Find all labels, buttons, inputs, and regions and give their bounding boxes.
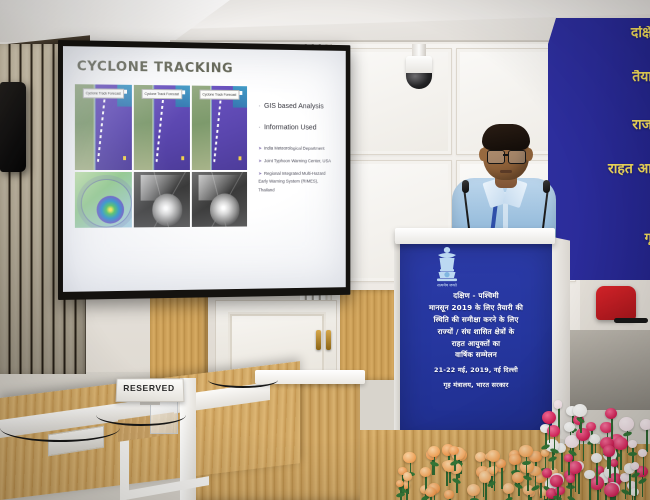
eyeglasses-lens-left xyxy=(487,150,505,164)
flower-bloom xyxy=(550,475,562,486)
wood-pilaster xyxy=(150,290,208,380)
orange-flower-arrangement xyxy=(392,438,560,500)
eyeglasses-lens-right xyxy=(508,150,526,164)
projection-screen-frame: CYCLONE TRACKING Cyclone Track Forecast … xyxy=(58,40,350,300)
flower-bloom xyxy=(603,445,616,457)
right-banner-line-3: राज xyxy=(556,118,650,132)
desk-cable xyxy=(208,372,278,388)
flower-bloom xyxy=(444,490,454,499)
flower-leaf xyxy=(628,452,637,456)
eyeglasses-bridge xyxy=(503,154,508,156)
microphone-head-right xyxy=(543,180,550,193)
conference-hall-photo: CYCLONE TRACKING Cyclone Track Forecast … xyxy=(0,0,650,500)
wall-panel xyxy=(340,48,452,155)
slide-sub-bullet-list: ➤India Meteorological Department ➤Joint … xyxy=(258,144,338,194)
wood-pilaster xyxy=(340,290,402,380)
speaker-hair xyxy=(482,124,530,150)
banner-line-2: मानसून 2019 के लिए तैयारी की xyxy=(398,302,554,314)
map-red-tag xyxy=(182,90,185,94)
flower-bloom xyxy=(425,487,436,497)
rainfall-wind-analysis-map xyxy=(75,172,132,228)
sub-bullet-imd: ➤India Meteorological Department xyxy=(258,144,338,153)
banner-line-5: राहत आयुक्तों का xyxy=(398,338,554,350)
speaker-mouth xyxy=(500,170,512,173)
map-yellow-tag xyxy=(123,156,126,160)
projection-screen: CYCLONE TRACKING Cyclone Track Forecast … xyxy=(63,46,346,292)
slide-bullet-gis: ·GIS based Analysis xyxy=(258,102,338,111)
sub-bullet-rimes: ➤Regional Integrated Multi-Hazard Early … xyxy=(258,170,333,195)
cyclone-track-forecast-map-2: Cyclone Track Forecast xyxy=(134,85,190,170)
svg-text:सत्यमेव जयते: सत्यमेव जयते xyxy=(437,283,457,288)
red-chair xyxy=(596,286,636,320)
right-banner-line-5: गृ xyxy=(556,232,650,245)
slide-bullet-list: ·GIS based Analysis ·Information Used ➤I… xyxy=(258,102,338,199)
map-caption: Cyclone Track Forecast xyxy=(142,89,182,99)
sub-bullet-label: Joint Typhoon Warning Center, USA xyxy=(264,158,331,163)
flower-bloom xyxy=(403,452,416,464)
right-banner-line-4: राहत आ xyxy=(556,162,650,176)
bullet-label: Information Used xyxy=(264,122,316,131)
satellite-cyclone-image-2 xyxy=(192,172,247,227)
banner-ministry-line: गृह मंत्रालय, भारत सरकार xyxy=(398,380,554,391)
speaker-ear-left xyxy=(479,148,487,161)
right-banner-text: दक्षि तैया राज राहत आ गृ xyxy=(556,26,650,275)
flower-bloom xyxy=(509,454,520,464)
flower-bloom xyxy=(591,453,602,463)
bullet-label: GIS based Analysis xyxy=(264,101,324,110)
flower-leaf xyxy=(452,477,462,484)
flower-bloom xyxy=(620,473,629,482)
flower-bloom xyxy=(584,470,595,480)
flower-leaf xyxy=(396,492,406,498)
flower-bloom xyxy=(420,467,431,477)
banner-line-1: दक्षिण - पश्चिमी xyxy=(398,290,554,302)
flower-bloom xyxy=(542,411,556,424)
flower-bloom xyxy=(604,483,619,497)
right-banner-line-2: तैया xyxy=(556,70,650,84)
podium-banner-text: दक्षिण - पश्चिमी मानसून 2019 के लिए तैया… xyxy=(398,290,554,390)
banner-line-4: राज्यों / संघ शासित क्षेत्रों के xyxy=(398,326,554,338)
podium-top-surface xyxy=(395,228,555,244)
sub-bullet-label: Regional Integrated Multi-Hazard Early W… xyxy=(258,171,325,192)
flower-bloom xyxy=(403,472,413,481)
banner-line-6: वार्षिक सम्मेलन xyxy=(398,349,554,361)
desk-cable xyxy=(96,404,186,426)
map-caption: Cyclone Track Forecast xyxy=(200,90,240,100)
map-red-tag xyxy=(240,91,243,95)
cyclone-track-forecast-map-1: Cyclone Track Forecast xyxy=(75,84,132,170)
flower-bloom xyxy=(628,440,637,448)
flower-leaf xyxy=(566,495,576,500)
flower-leaf xyxy=(514,482,524,490)
right-banner-line-1: दक्षि xyxy=(556,26,650,40)
flower-leaf xyxy=(504,496,514,500)
flower-bloom xyxy=(573,404,587,417)
ashoka-lion-capital-emblem: सत्यमेव जयते xyxy=(427,245,467,289)
map-yellow-tag xyxy=(181,156,184,160)
map-yellow-tag xyxy=(239,156,242,160)
pink-white-flower-arrangement xyxy=(540,396,650,500)
flower-bloom xyxy=(638,449,647,458)
flower-bloom xyxy=(619,417,634,431)
flower-bloom xyxy=(576,428,590,441)
slide-title: CYCLONE TRACKING xyxy=(77,58,233,76)
satellite-cyclone-image-1 xyxy=(134,172,190,227)
door-handle[interactable] xyxy=(316,330,321,350)
reserved-sign-label: RESERVED xyxy=(118,383,180,393)
flower-bloom xyxy=(467,484,480,496)
flower-bloom xyxy=(428,446,440,457)
chair-armrest xyxy=(614,318,648,323)
banner-line-3: स्थिति की समीक्षा करने के लिए xyxy=(398,314,554,326)
flower-bloom xyxy=(564,454,573,462)
flower-bloom xyxy=(519,445,533,458)
flower-bloom xyxy=(640,419,650,430)
microphone-head-left xyxy=(462,180,469,193)
map-red-tag xyxy=(124,90,127,94)
flower-bloom xyxy=(589,434,600,444)
wall-speaker xyxy=(0,82,26,172)
flower-bloom xyxy=(613,437,628,450)
door-handle[interactable] xyxy=(326,330,331,350)
flower-bloom xyxy=(605,408,617,419)
flower-bloom xyxy=(610,459,619,467)
sub-bullet-jtwc: ➤Joint Typhoon Warning Center, USA xyxy=(258,157,338,165)
flower-bloom xyxy=(554,400,563,408)
cyclone-track-forecast-map-3: Cyclone Track Forecast xyxy=(192,86,247,170)
sub-bullet-label: India Meteorological Department xyxy=(264,145,325,150)
banner-date-line: 21-22 मई, 2019, नई दिल्ली xyxy=(398,365,554,376)
slide-map-grid: Cyclone Track Forecast Cyclone Track For… xyxy=(75,84,247,226)
flower-bloom xyxy=(503,483,515,494)
flower-stem xyxy=(635,467,637,497)
speaker-ear-right xyxy=(525,148,533,161)
map-caption: Cyclone Track Forecast xyxy=(83,88,124,98)
slide-bullet-information-used: ·Information Used xyxy=(258,123,338,132)
